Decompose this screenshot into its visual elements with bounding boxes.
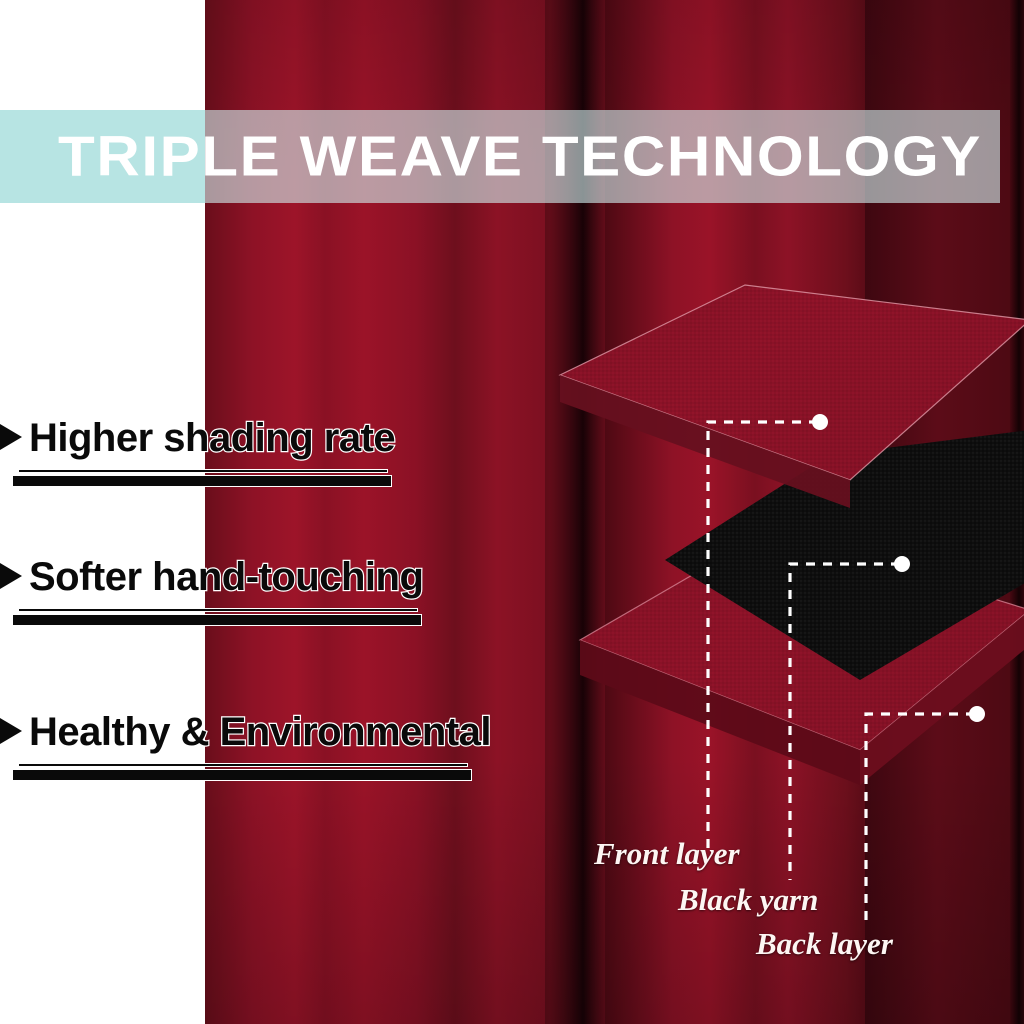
feature-underline bbox=[0, 469, 620, 487]
feature-label: Higher shading rate bbox=[29, 418, 395, 458]
underline-thin-rule bbox=[18, 608, 418, 612]
product-infographic: TRIPLE WEAVE TECHNOLOGY Higher shading r… bbox=[0, 0, 1024, 1024]
feature-item-1: Higher shading rate bbox=[0, 418, 620, 487]
callout-label-front-layer: Front layer bbox=[594, 838, 740, 869]
callout-label-back-layer: Back layer bbox=[756, 928, 893, 959]
feature-underline bbox=[0, 608, 620, 626]
feature-label: Healthy & Environmental bbox=[29, 712, 491, 752]
underline-thick-rule bbox=[12, 769, 472, 781]
feature-underline bbox=[0, 763, 620, 781]
underline-thick-rule bbox=[12, 475, 392, 487]
triangle-bullet-icon bbox=[0, 424, 22, 450]
triangle-bullet-icon bbox=[0, 718, 22, 744]
feature-row: Healthy & Environmental bbox=[0, 712, 620, 752]
headline-banner: TRIPLE WEAVE TECHNOLOGY bbox=[0, 110, 1000, 203]
feature-label: Softer hand-touching bbox=[29, 557, 423, 597]
triangle-bullet-icon bbox=[0, 563, 22, 589]
feature-item-3: Healthy & Environmental bbox=[0, 712, 620, 781]
feature-row: Higher shading rate bbox=[0, 418, 620, 458]
underline-thin-rule bbox=[18, 469, 388, 473]
feature-item-2: Softer hand-touching bbox=[0, 557, 620, 626]
underline-thick-rule bbox=[12, 614, 422, 626]
feature-row: Softer hand-touching bbox=[0, 557, 620, 597]
callout-label-black-yarn: Black yarn bbox=[678, 884, 818, 915]
underline-thin-rule bbox=[18, 763, 468, 767]
page-title: TRIPLE WEAVE TECHNOLOGY bbox=[58, 128, 982, 185]
